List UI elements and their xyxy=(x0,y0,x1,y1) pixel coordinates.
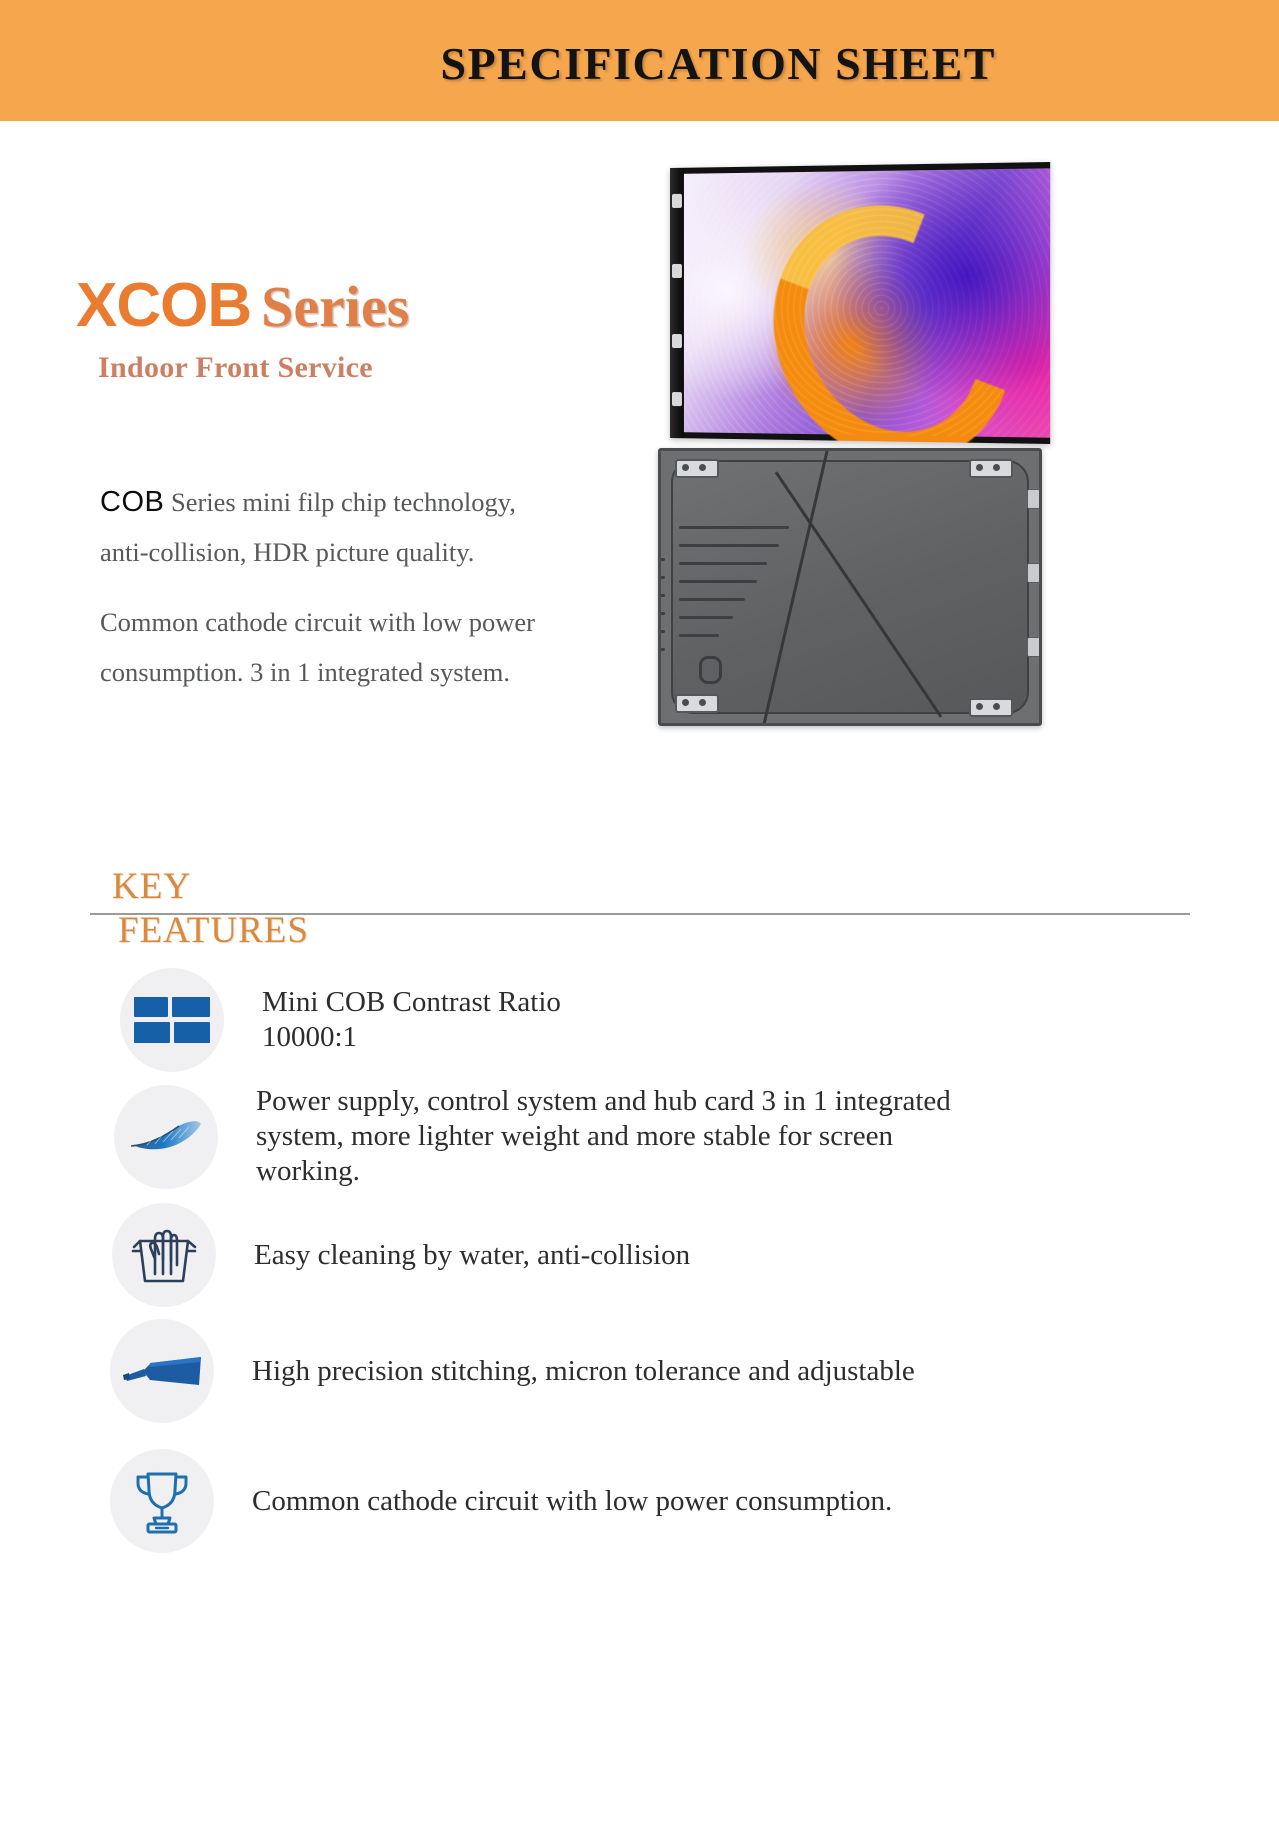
feature-row-easy-cleaning: Easy cleaning by water, anti-collision xyxy=(112,1203,1206,1307)
key-features-title-line1: KEY xyxy=(112,866,191,907)
key-features-list: Mini COB Contrast Ratio 10000:1 xyxy=(96,968,1206,1553)
feature-text-easy-cleaning: Easy cleaning by water, anti-collision xyxy=(254,1238,690,1273)
feather-icon xyxy=(127,1114,205,1160)
led-panel-front-view xyxy=(670,162,1050,444)
panel-bracket-bottom-right xyxy=(969,698,1013,717)
panel-side-tab-3 xyxy=(1027,637,1041,657)
feature-row-precision-stitching: High precision stitching, micron toleran… xyxy=(110,1319,1206,1423)
header-banner: SPECIFICATION SHEET xyxy=(0,0,1279,121)
feature-icon-wrap xyxy=(120,968,224,1072)
panel-side-tab-1 xyxy=(1027,489,1041,509)
panel-bracket-top-left xyxy=(675,459,719,478)
panel-bracket-bottom-left xyxy=(675,694,719,713)
panel-back-body xyxy=(671,460,1029,714)
feature-icon-wrap xyxy=(114,1085,218,1189)
feature-icon-wrap xyxy=(112,1203,216,1307)
wrench-tool-icon xyxy=(119,1345,205,1397)
trophy-icon xyxy=(130,1466,194,1536)
screen-moire-overlay xyxy=(684,168,1050,437)
feature-row-common-cathode: Common cathode circuit with low power co… xyxy=(110,1449,1206,1553)
panel-diagonal-seam-1 xyxy=(757,448,832,726)
feature-icon-wrap xyxy=(110,1449,214,1553)
feature-text-power-supply: Power supply, control system and hub car… xyxy=(256,1084,996,1189)
brand-name: XCOB xyxy=(76,271,251,340)
key-features-heading: KEY FEATURES xyxy=(90,865,1200,970)
panel-bracket-top-right xyxy=(969,459,1013,478)
panel-side-rail xyxy=(670,168,684,438)
product-intro: XCOBSeries Indoor Front Service COB Seri… xyxy=(76,275,676,697)
intro-lead-label: COB xyxy=(100,486,164,518)
brick-panel-icon xyxy=(134,997,210,1043)
hand-wash-icon xyxy=(128,1219,200,1291)
panel-side-tab-2 xyxy=(1027,563,1041,583)
led-panel-back-view xyxy=(658,448,1042,726)
brand-title: XCOBSeries xyxy=(76,275,676,337)
intro-paragraph-1: COB Series mini filp chip technology, an… xyxy=(100,477,570,577)
feature-icon-wrap xyxy=(110,1319,214,1423)
page-title: SPECIFICATION SHEET xyxy=(440,37,996,90)
feature-row-power-supply: Power supply, control system and hub car… xyxy=(114,1084,1206,1189)
intro-paragraph-2: Common cathode circuit with low power co… xyxy=(100,597,540,697)
product-image-group xyxy=(658,168,1036,720)
feature-text-common-cathode: Common cathode circuit with low power co… xyxy=(252,1484,892,1519)
key-features-title: KEY FEATURES xyxy=(112,865,309,953)
panel-diagonal-seam-2 xyxy=(775,471,942,717)
led-screen-content xyxy=(684,168,1050,437)
key-features-title-line2: FEATURES xyxy=(118,909,309,953)
feature-text-contrast-ratio: Mini COB Contrast Ratio 10000:1 xyxy=(262,985,561,1055)
panel-handle-hole xyxy=(699,656,722,684)
feature-row-contrast-ratio: Mini COB Contrast Ratio 10000:1 xyxy=(120,968,1206,1072)
brand-series-word: Series xyxy=(261,274,409,339)
feature-text-precision-stitching: High precision stitching, micron toleran… xyxy=(252,1354,915,1389)
product-subtitle: Indoor Front Service xyxy=(98,351,676,385)
